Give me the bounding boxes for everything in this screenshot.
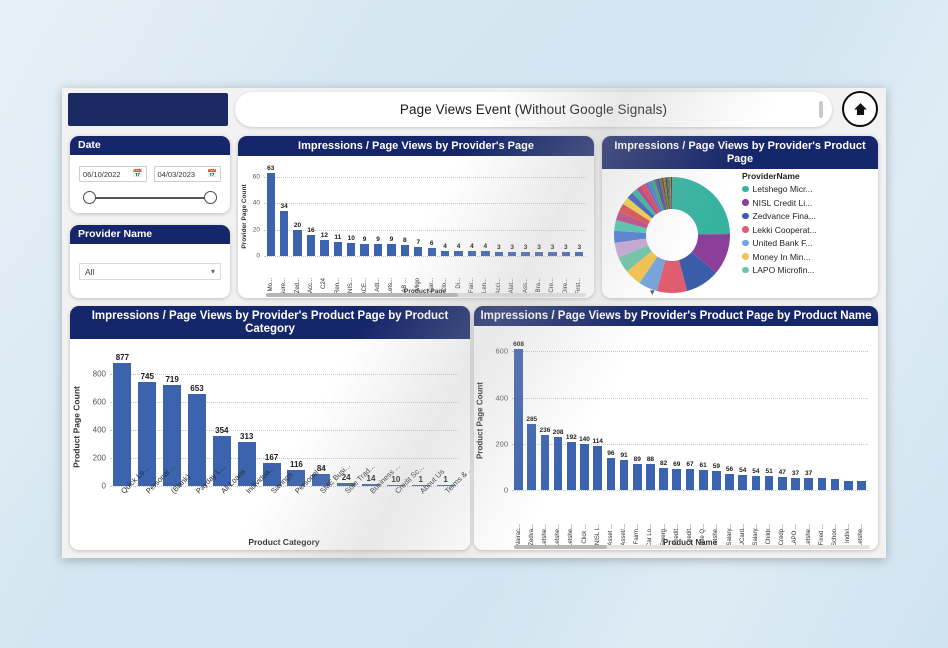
- bar[interactable]: [320, 240, 328, 256]
- bar[interactable]: [738, 475, 747, 490]
- legend-color-swatch-icon: [742, 253, 749, 260]
- bar[interactable]: [113, 363, 131, 486]
- legend-color-swatch-icon: [742, 213, 749, 220]
- gridline: [264, 203, 586, 204]
- date-end-value: 04/03/2023: [158, 170, 196, 179]
- bar[interactable]: [441, 251, 449, 256]
- chevron-down-icon: ▾: [211, 267, 215, 276]
- bar[interactable]: [521, 252, 529, 256]
- bar[interactable]: [699, 470, 708, 490]
- gridline: [512, 398, 868, 399]
- legend-color-swatch-icon: [742, 199, 749, 206]
- bar[interactable]: [659, 468, 668, 490]
- bar[interactable]: [334, 242, 342, 257]
- legend-color-swatch-icon: [742, 226, 749, 233]
- bar[interactable]: [401, 245, 409, 256]
- bar[interactable]: [633, 464, 642, 490]
- bar[interactable]: [712, 471, 721, 490]
- date-range-slider[interactable]: [83, 191, 217, 205]
- legend-title: ProviderName: [742, 171, 874, 181]
- horizontal-scrollbar[interactable]: [266, 293, 586, 297]
- legend-color-swatch-icon: [742, 240, 749, 247]
- bar[interactable]: [672, 469, 681, 490]
- x-axis-title: Product Category: [110, 537, 458, 547]
- chart-providers-page-plot[interactable]: 02040606334201612111099987644443333333Mo…: [238, 156, 594, 298]
- title-bar-handle: [819, 101, 823, 118]
- donut-legend: ProviderName Letshego Micr...NISL Credit…: [742, 171, 874, 279]
- bar-value-label: 719: [151, 375, 194, 384]
- legend-color-swatch-icon: [742, 267, 749, 274]
- bar[interactable]: [188, 394, 206, 486]
- bar[interactable]: [725, 474, 734, 490]
- slider-track: [89, 197, 211, 199]
- bar[interactable]: [791, 478, 800, 490]
- bar-value-label: 285: [521, 416, 543, 423]
- bar[interactable]: [280, 211, 288, 256]
- bar[interactable]: [541, 435, 550, 490]
- gridline: [512, 444, 868, 445]
- legend-item[interactable]: NISL Credit Li...: [742, 198, 874, 208]
- legend-item-label: NISL Credit Li...: [753, 198, 813, 208]
- calendar-icon: 📅: [133, 170, 143, 178]
- bar-value-label: 37: [798, 470, 820, 477]
- bar[interactable]: [562, 252, 570, 256]
- bar[interactable]: [468, 251, 476, 256]
- bar[interactable]: [857, 481, 866, 490]
- legend-item[interactable]: Lekki Cooperat...: [742, 225, 874, 235]
- bar[interactable]: [646, 464, 655, 490]
- bar[interactable]: [414, 247, 422, 256]
- bar[interactable]: [481, 251, 489, 256]
- page-title: Page Views Event (Without Google Signals…: [400, 102, 667, 117]
- bar-value-label: 63: [260, 165, 282, 172]
- gridline: [512, 351, 868, 352]
- provider-name-slicer[interactable]: Provider Name All ▾: [70, 225, 230, 298]
- legend-item-label: Lekki Cooperat...: [753, 225, 817, 235]
- bar[interactable]: [454, 251, 462, 256]
- provider-slicer-title: Provider Name: [70, 225, 230, 244]
- provider-selected-value: All: [85, 267, 94, 277]
- chart-donut-title: Impressions / Page Views by Provider's P…: [602, 136, 878, 169]
- scrollbar-thumb[interactable]: [266, 293, 458, 297]
- legend-item-label: Zedvance Fina...: [753, 211, 816, 221]
- legend-more-chevron-down-icon[interactable]: ▾: [650, 287, 655, 298]
- y-axis-title: Provider Page Count: [241, 173, 248, 260]
- bar[interactable]: [387, 244, 395, 256]
- date-start-input[interactable]: 06/10/2022 📅: [79, 166, 147, 182]
- legend-item-label: LAPO Microfin...: [753, 265, 815, 275]
- chart-product-name[interactable]: Impressions / Page Views by Provider's P…: [474, 306, 878, 550]
- chart-product-category-title: Impressions / Page Views by Provider's P…: [70, 306, 470, 339]
- chart-product-name-title: Impressions / Page Views by Provider's P…: [474, 306, 878, 326]
- donut-hole: [646, 209, 698, 261]
- home-button[interactable]: [842, 91, 878, 127]
- bar[interactable]: [778, 477, 787, 490]
- legend-item[interactable]: Zedvance Fina...: [742, 211, 874, 221]
- legend-item-label: Money In Min...: [753, 252, 811, 262]
- gridline: [110, 402, 458, 403]
- bar[interactable]: [554, 437, 563, 490]
- bar[interactable]: [267, 173, 275, 256]
- provider-name-dropdown[interactable]: All ▾: [79, 263, 221, 280]
- bar-value-label: 608: [508, 341, 530, 348]
- bar[interactable]: [567, 442, 576, 490]
- donut-chart[interactable]: [612, 175, 732, 295]
- chart-product-category[interactable]: Impressions / Page Views by Provider's P…: [70, 306, 470, 550]
- bar[interactable]: [752, 476, 761, 490]
- legend-item[interactable]: United Bank F...: [742, 238, 874, 248]
- home-up-arrow-icon: [851, 100, 870, 119]
- date-start-value: 06/10/2022: [83, 170, 121, 179]
- bar[interactable]: [620, 460, 629, 490]
- bar[interactable]: [495, 252, 503, 256]
- bar[interactable]: [548, 252, 556, 256]
- y-axis-title: Product Page Count: [71, 362, 81, 491]
- bar[interactable]: [844, 481, 853, 490]
- horizontal-scrollbar[interactable]: [514, 545, 870, 549]
- chart-providers-page[interactable]: Impressions / Page Views by Provider's P…: [238, 136, 594, 298]
- date-slicer-title: Date: [70, 136, 230, 155]
- bar[interactable]: [535, 252, 543, 256]
- bar-value-label: 114: [587, 438, 609, 445]
- chart-product-name-plot[interactable]: 0200400600608285236208192140114969189888…: [474, 326, 878, 550]
- gridline: [264, 177, 586, 178]
- report-title-bar: Page Views Event (Without Google Signals…: [235, 92, 832, 127]
- bar[interactable]: [686, 469, 695, 490]
- bar[interactable]: [765, 476, 774, 490]
- chart-product-category-plot[interactable]: 0200400600800877745719653354313167116842…: [70, 339, 470, 550]
- date-slicer[interactable]: Date 06/10/2022 📅 04/03/2023 📅: [70, 136, 230, 213]
- slider-handle-start[interactable]: [83, 191, 96, 204]
- bar[interactable]: [580, 444, 589, 490]
- legend-item-label: Letshego Micr...: [753, 184, 813, 194]
- bar[interactable]: [374, 244, 382, 256]
- chart-providers-page-title: Impressions / Page Views by Provider's P…: [238, 136, 594, 156]
- bar[interactable]: [360, 244, 368, 256]
- legend-item[interactable]: Money In Min...: [742, 252, 874, 262]
- bar-value-label: 3: [568, 244, 590, 251]
- gridline: [264, 256, 586, 257]
- nav-placeholder-block: [68, 93, 228, 126]
- bar-value-label: 313: [225, 432, 268, 441]
- legend-item-label: United Bank F...: [753, 238, 813, 248]
- bar-value-label: 877: [101, 353, 144, 362]
- bar[interactable]: [347, 243, 355, 256]
- calendar-icon: 📅: [207, 170, 217, 178]
- legend-item[interactable]: LAPO Microfin...: [742, 265, 874, 275]
- legend-item[interactable]: Letshego Micr...: [742, 184, 874, 194]
- legend-color-swatch-icon: [742, 186, 749, 193]
- gridline: [110, 430, 458, 431]
- bar[interactable]: [508, 252, 516, 256]
- slider-handle-end[interactable]: [204, 191, 217, 204]
- report-canvas: Page Views Event (Without Google Signals…: [62, 88, 886, 558]
- chart-product-page-donut[interactable]: Impressions / Page Views by Provider's P…: [602, 136, 878, 298]
- bar[interactable]: [804, 478, 813, 490]
- bar[interactable]: [575, 252, 583, 256]
- bar[interactable]: [831, 479, 840, 490]
- y-axis-title: Product Page Count: [476, 347, 485, 495]
- gridline: [512, 490, 868, 491]
- date-end-input[interactable]: 04/03/2023 📅: [154, 166, 222, 182]
- scrollbar-thumb[interactable]: [514, 545, 607, 549]
- bar-value-label: 34: [273, 203, 295, 210]
- bar[interactable]: [818, 478, 827, 490]
- bar-value-label: 653: [176, 384, 219, 393]
- bar[interactable]: [607, 458, 616, 490]
